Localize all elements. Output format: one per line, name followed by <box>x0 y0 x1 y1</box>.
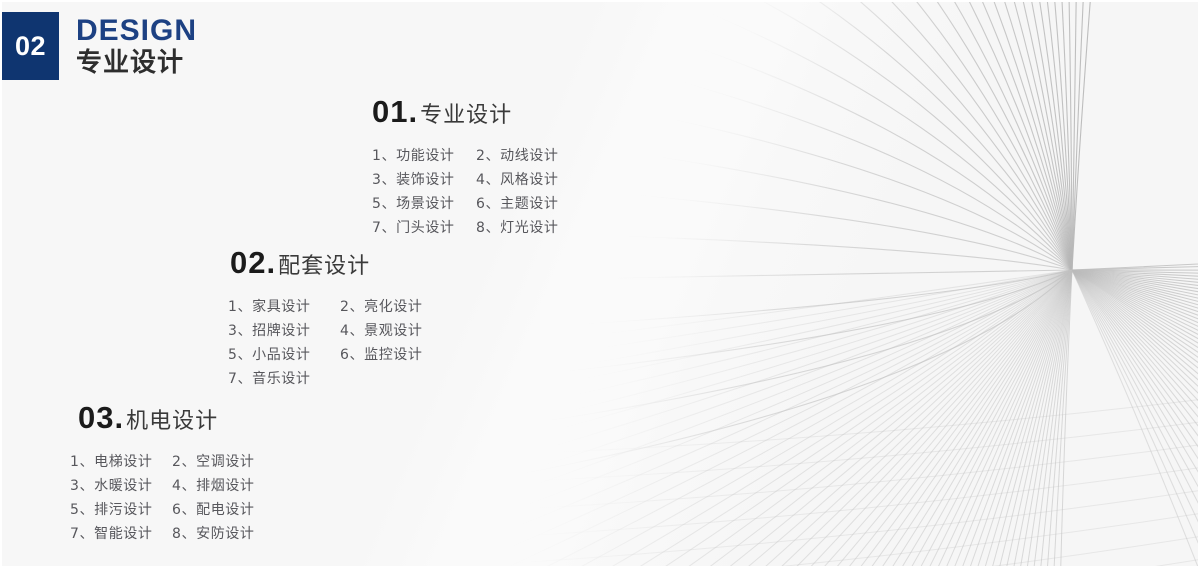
list-item: 5、排污设计 <box>70 498 172 522</box>
section-01: 01. 专业设计 1、功能设计 2、动线设计 3、装饰设计 4、风格设计 5、场… <box>372 94 580 240</box>
list-row: 5、排污设计 6、配电设计 <box>70 498 274 522</box>
list-row: 7、智能设计 8、安防设计 <box>70 522 274 546</box>
section-02-number: 02. <box>230 245 276 281</box>
list-item: 2、动线设计 <box>476 144 580 168</box>
section-02-list: 1、家具设计 2、亮化设计 3、招牌设计 4、景观设计 5、小品设计 6、监控设… <box>228 295 452 391</box>
section-03-list: 1、电梯设计 2、空调设计 3、水暖设计 4、排烟设计 5、排污设计 6、配电设… <box>70 450 274 546</box>
list-row: 1、家具设计 2、亮化设计 <box>228 295 452 319</box>
list-row: 1、功能设计 2、动线设计 <box>372 144 580 168</box>
list-item: 3、装饰设计 <box>372 168 476 192</box>
list-row: 1、电梯设计 2、空调设计 <box>70 450 274 474</box>
section-02-heading: 02. 配套设计 <box>230 245 452 281</box>
list-item: 8、灯光设计 <box>476 216 580 240</box>
list-item: 3、水暖设计 <box>70 474 172 498</box>
section-01-list: 1、功能设计 2、动线设计 3、装饰设计 4、风格设计 5、场景设计 6、主题设… <box>372 144 580 240</box>
slide-canvas: 02 DESIGN 专业设计 01. 专业设计 1、功能设计 2、动线设计 3、… <box>0 0 1200 572</box>
list-row: 3、装饰设计 4、风格设计 <box>372 168 580 192</box>
slide-header: 02 DESIGN 专业设计 <box>2 12 197 80</box>
section-03: 03. 机电设计 1、电梯设计 2、空调设计 3、水暖设计 4、排烟设计 5、排… <box>78 400 274 546</box>
list-item: 2、空调设计 <box>172 450 274 474</box>
list-item: 6、监控设计 <box>340 343 452 367</box>
list-row: 5、小品设计 6、监控设计 <box>228 343 452 367</box>
section-03-heading: 03. 机电设计 <box>78 400 274 436</box>
list-item: 7、智能设计 <box>70 522 172 546</box>
list-item: 7、音乐设计 <box>228 367 340 391</box>
list-item: 1、功能设计 <box>372 144 476 168</box>
header-title-en: DESIGN <box>76 16 197 46</box>
list-row: 7、音乐设计 <box>228 367 452 391</box>
list-item: 3、招牌设计 <box>228 319 340 343</box>
header-titles: DESIGN 专业设计 <box>76 16 197 76</box>
list-item: 1、电梯设计 <box>70 450 172 474</box>
section-01-number: 01. <box>372 94 418 130</box>
list-item: 6、主题设计 <box>476 192 580 216</box>
section-03-name: 机电设计 <box>126 403 218 435</box>
list-row: 3、招牌设计 4、景观设计 <box>228 319 452 343</box>
section-02: 02. 配套设计 1、家具设计 2、亮化设计 3、招牌设计 4、景观设计 5、小… <box>230 245 452 391</box>
list-item: 8、安防设计 <box>172 522 274 546</box>
section-number-badge: 02 <box>2 12 59 80</box>
section-02-name: 配套设计 <box>278 248 370 280</box>
list-item: 2、亮化设计 <box>340 295 452 319</box>
list-item <box>340 367 452 391</box>
list-item: 4、排烟设计 <box>172 474 274 498</box>
list-item: 5、小品设计 <box>228 343 340 367</box>
list-item: 4、风格设计 <box>476 168 580 192</box>
list-item: 5、场景设计 <box>372 192 476 216</box>
header-title-cn: 专业设计 <box>76 50 197 76</box>
list-row: 7、门头设计 8、灯光设计 <box>372 216 580 240</box>
section-01-name: 专业设计 <box>420 97 512 129</box>
list-item: 7、门头设计 <box>372 216 476 240</box>
list-item: 1、家具设计 <box>228 295 340 319</box>
section-03-number: 03. <box>78 400 124 436</box>
section-01-heading: 01. 专业设计 <box>372 94 580 130</box>
list-row: 5、场景设计 6、主题设计 <box>372 192 580 216</box>
list-item: 4、景观设计 <box>340 319 452 343</box>
list-row: 3、水暖设计 4、排烟设计 <box>70 474 274 498</box>
list-item: 6、配电设计 <box>172 498 274 522</box>
